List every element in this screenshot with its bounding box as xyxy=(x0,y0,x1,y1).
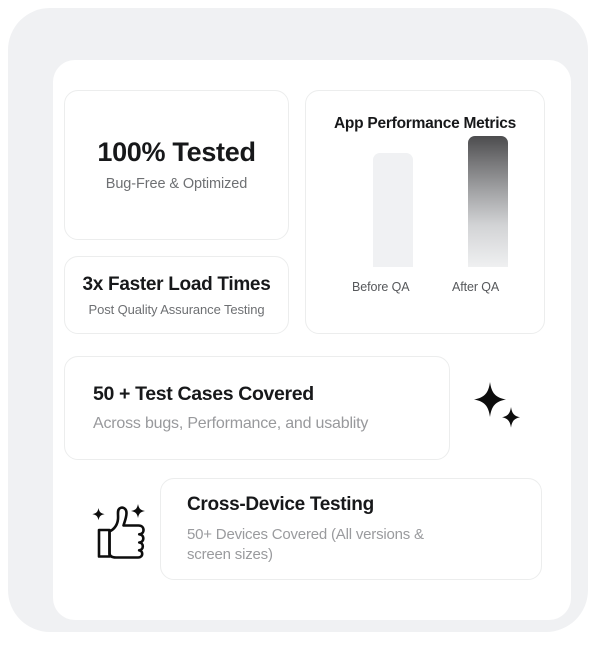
tested-headline: 100% Tested xyxy=(97,138,255,168)
device-headline: Cross-Device Testing xyxy=(187,494,515,516)
device-subtext: 50+ Devices Covered (All versions & scre… xyxy=(187,525,455,565)
card-cross-device[interactable]: Cross-Device Testing 50+ Devices Covered… xyxy=(160,478,542,580)
chart-title: App Performance Metrics xyxy=(306,115,544,133)
card-faster-load[interactable]: 3x Faster Load Times Post Quality Assura… xyxy=(64,256,289,334)
tested-subtext: Bug-Free & Optimized xyxy=(106,176,247,192)
bar-tick-label-after-qa: After QA xyxy=(452,280,499,294)
card-performance-chart[interactable]: App Performance Metrics Before QA After … xyxy=(305,90,545,334)
bar-after-qa xyxy=(468,136,508,267)
faster-headline: 3x Faster Load Times xyxy=(83,274,271,296)
screenshot-stage: 100% Tested Bug-Free & Optimized 3x Fast… xyxy=(0,0,608,648)
card-tested[interactable]: 100% Tested Bug-Free & Optimized xyxy=(64,90,289,240)
cases-headline: 50 + Test Cases Covered xyxy=(93,383,421,406)
faster-subtext: Post Quality Assurance Testing xyxy=(89,302,265,317)
cases-subtext: Across bugs, Performance, and usablity xyxy=(93,415,421,433)
sparkle-icon xyxy=(470,380,530,436)
bar-tick-label-before-qa: Before QA xyxy=(352,280,409,294)
bar-column-before-qa xyxy=(372,153,414,267)
thumbs-up-sparkle-icon xyxy=(86,496,156,564)
bar-column-after-qa xyxy=(467,136,509,267)
bar-before-qa xyxy=(373,153,413,267)
bar-chart-plot-area: Before QA After QA xyxy=(334,153,518,298)
card-test-cases[interactable]: 50 + Test Cases Covered Across bugs, Per… xyxy=(64,356,450,460)
